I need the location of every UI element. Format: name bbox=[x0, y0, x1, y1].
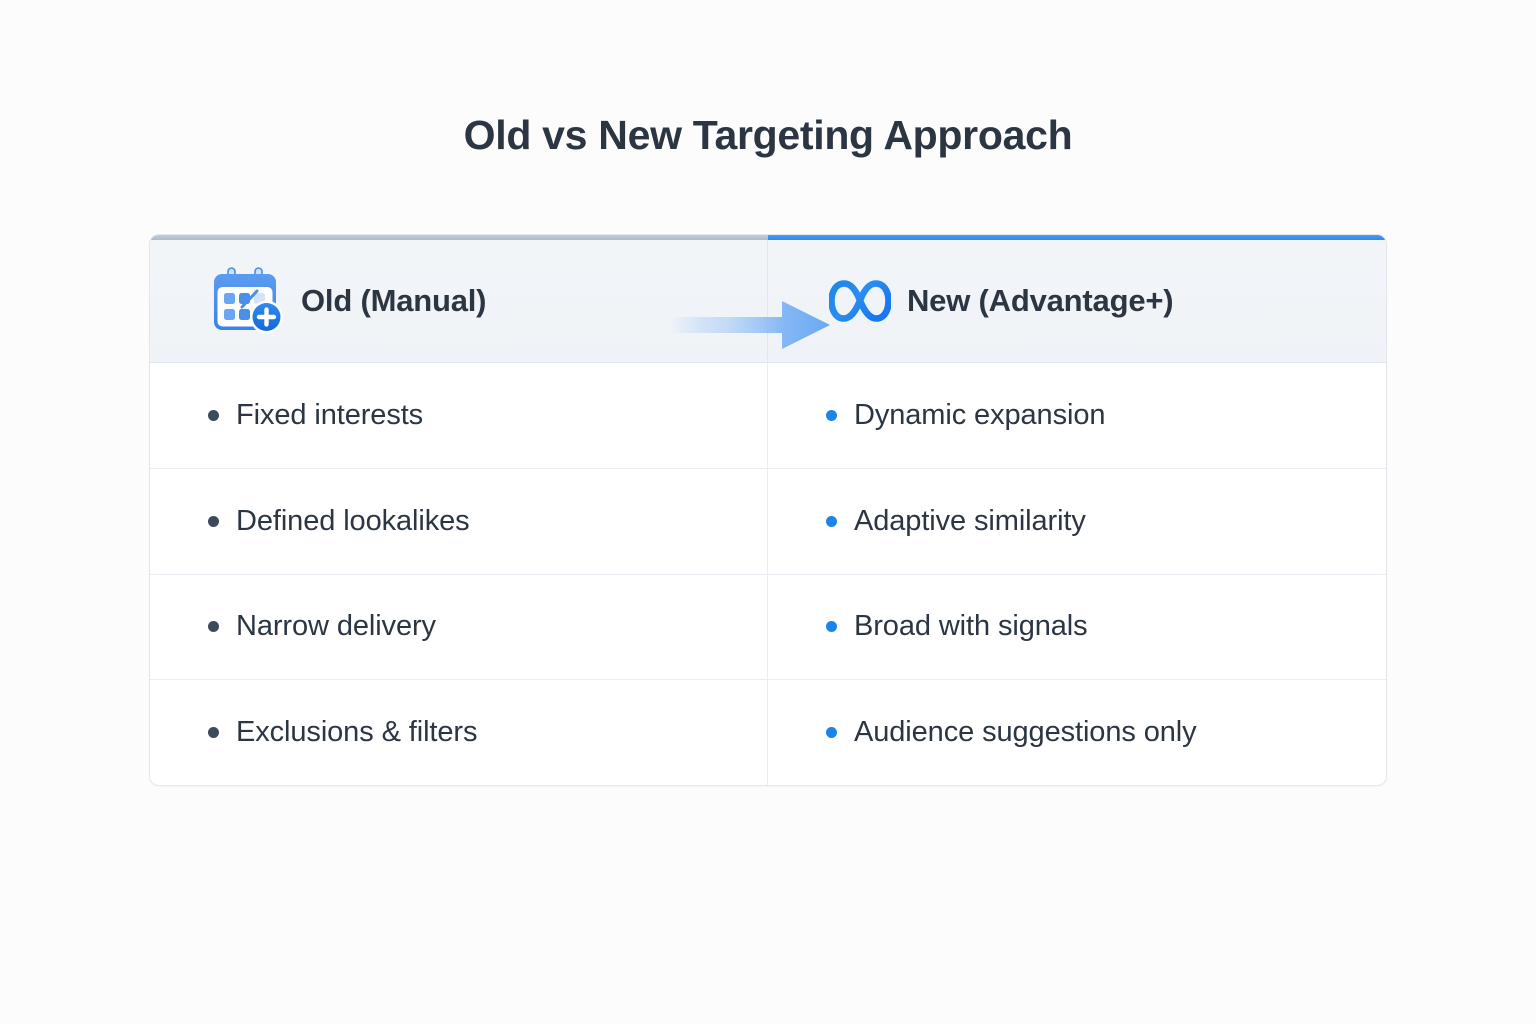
bullet-icon bbox=[208, 516, 219, 527]
comparison-page: Old vs New Targeting Approach bbox=[0, 0, 1536, 1024]
cell-text-new: Audience suggestions only bbox=[854, 716, 1197, 749]
table-accent-bar bbox=[150, 235, 1386, 240]
cell-text-old: Defined lookalikes bbox=[236, 505, 470, 538]
bullet-icon bbox=[208, 410, 219, 421]
meta-infinity-icon bbox=[829, 279, 891, 323]
column-label-old: Old (Manual) bbox=[301, 283, 486, 319]
bullet-icon bbox=[826, 621, 837, 632]
cell-old: Narrow delivery bbox=[150, 575, 768, 680]
bullet-icon bbox=[826, 516, 837, 527]
cell-text-new: Dynamic expansion bbox=[854, 399, 1105, 432]
cell-old: Defined lookalikes bbox=[150, 469, 768, 574]
bullet-icon bbox=[208, 727, 219, 738]
cell-new: Adaptive similarity bbox=[768, 469, 1386, 574]
table-row: Defined lookalikes Adaptive similarity bbox=[150, 469, 1386, 575]
cell-text-old: Exclusions & filters bbox=[236, 716, 477, 749]
table-header-new: New (Advantage+) bbox=[768, 240, 1386, 362]
bullet-icon bbox=[826, 727, 837, 738]
column-label-new: New (Advantage+) bbox=[907, 283, 1173, 319]
table-body: Fixed interests Dynamic expansion Define… bbox=[150, 363, 1386, 785]
cell-new: Broad with signals bbox=[768, 575, 1386, 680]
page-title: Old vs New Targeting Approach bbox=[0, 112, 1536, 159]
table-header-row: Old (Manual) New bbox=[150, 240, 1386, 363]
cell-text-old: Fixed interests bbox=[236, 399, 423, 432]
bullet-icon bbox=[826, 410, 837, 421]
cell-new: Dynamic expansion bbox=[768, 363, 1386, 468]
cell-text-new: Adaptive similarity bbox=[854, 505, 1086, 538]
table-row: Narrow delivery Broad with signals bbox=[150, 575, 1386, 681]
bullet-icon bbox=[208, 621, 219, 632]
calendar-plus-icon bbox=[211, 266, 285, 336]
comparison-table: Old (Manual) New bbox=[149, 234, 1387, 786]
cell-text-new: Broad with signals bbox=[854, 610, 1088, 643]
cell-new: Audience suggestions only bbox=[768, 680, 1386, 785]
cell-old: Exclusions & filters bbox=[150, 680, 768, 785]
table-row: Exclusions & filters Audience suggestion… bbox=[150, 680, 1386, 785]
accent-bar-old bbox=[150, 235, 768, 240]
table-row: Fixed interests Dynamic expansion bbox=[150, 363, 1386, 469]
cell-old: Fixed interests bbox=[150, 363, 768, 468]
accent-bar-new bbox=[768, 235, 1386, 240]
cell-text-old: Narrow delivery bbox=[236, 610, 436, 643]
table-header-old: Old (Manual) bbox=[150, 240, 768, 362]
